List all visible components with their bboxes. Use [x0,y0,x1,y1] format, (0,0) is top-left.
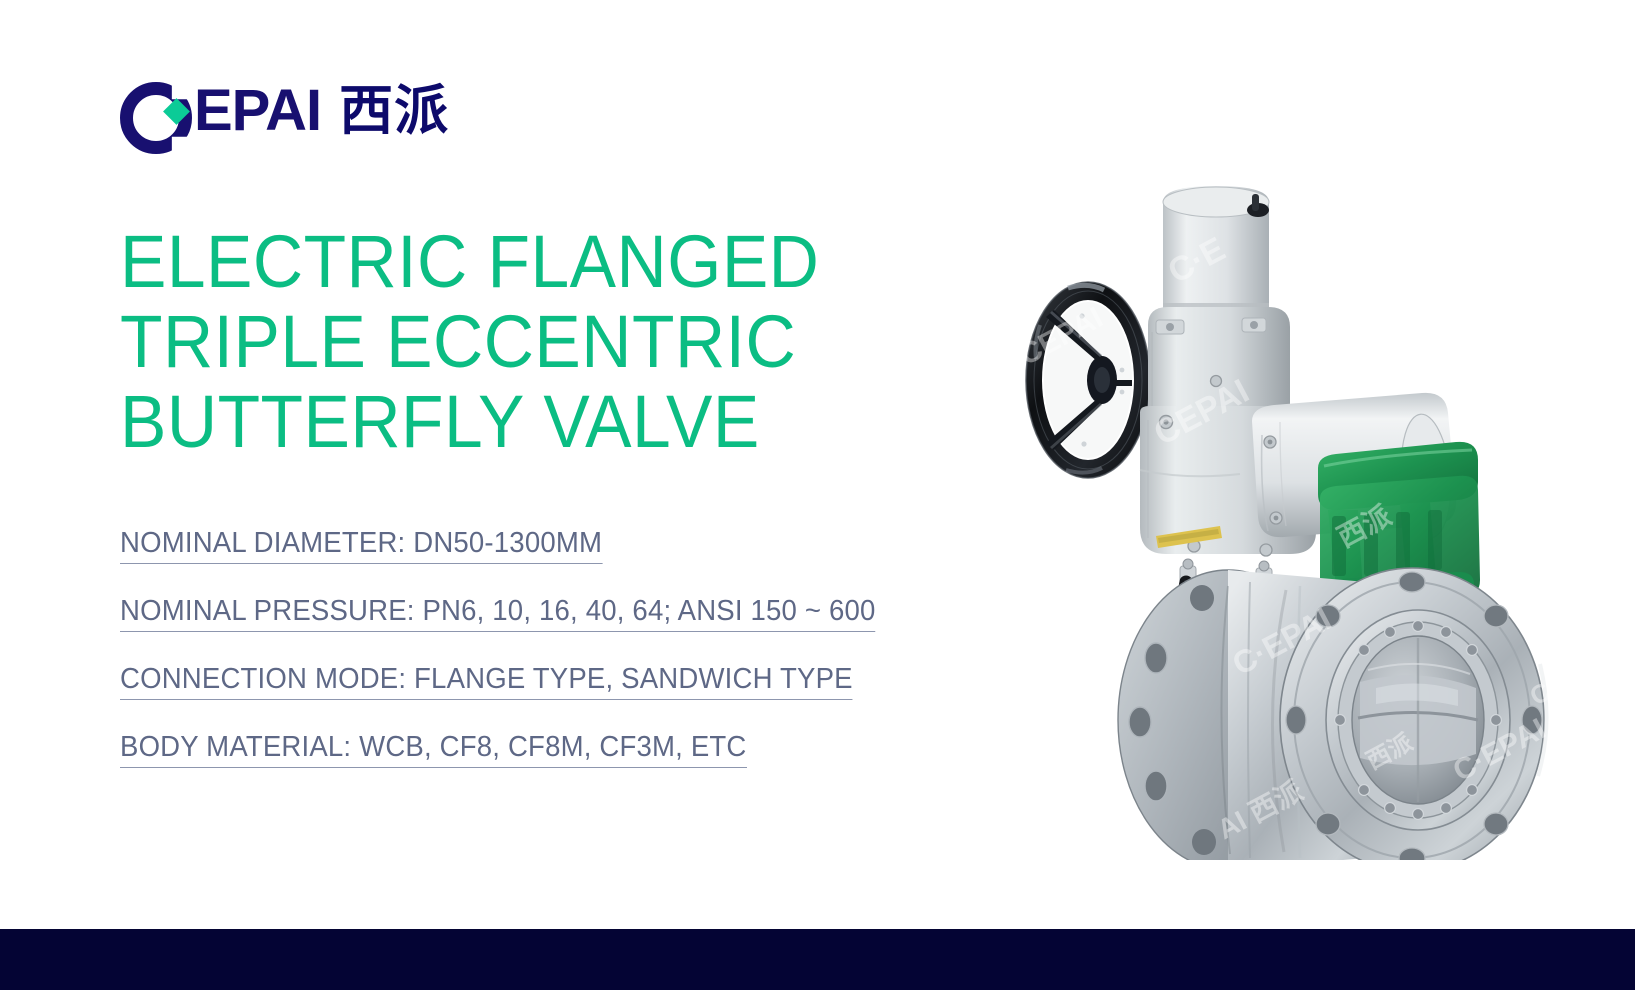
footer-bar [0,929,1635,990]
spec-body-material: BODY MATERIAL: WCB, CF8, CF8M, CF3M, ETC [120,732,747,768]
brand-wordmark: EPAI [194,82,321,140]
spec-list: NOMINAL DIAMETER: DN50-1300MM NOMINAL PR… [120,528,920,800]
page-title: ELECTRIC FLANGED TRIPLE ECCENTRIC BUTTER… [120,222,940,462]
title-line-3: BUTTERFLY VALVE [120,382,891,462]
slide-root: EPAI 西派 ELECTRIC FLANGED TRIPLE ECCENTRI… [0,0,1635,990]
title-line-1: ELECTRIC FLANGED [120,222,891,302]
brand-chinese-name: 西派 [339,82,449,140]
title-line-2: TRIPLE ECCENTRIC [120,302,891,382]
brand-logo: EPAI 西派 [120,80,449,142]
svg-text:CE: CE [1304,325,1356,374]
product-image: CEPAI 西派 C·E CEPAI CE 西派 CEP C·EP C·EPAI… [980,70,1620,860]
spec-nominal-pressure: NOMINAL PRESSURE: PN6, 10, 16, 40, 64; A… [120,596,876,632]
svg-text:CEP: CEP [1464,374,1539,437]
spec-connection-mode: CONNECTION MODE: FLANGE TYPE, SANDWICH T… [120,664,853,700]
logo-c-letter-icon [120,82,182,140]
flanged-valve-body-icon [1118,568,1547,860]
cepai-c-diamond-icon [120,82,182,140]
svg-text:C·EP: C·EP [1489,556,1558,612]
spec-nominal-diameter: NOMINAL DIAMETER: DN50-1300MM [120,528,602,564]
